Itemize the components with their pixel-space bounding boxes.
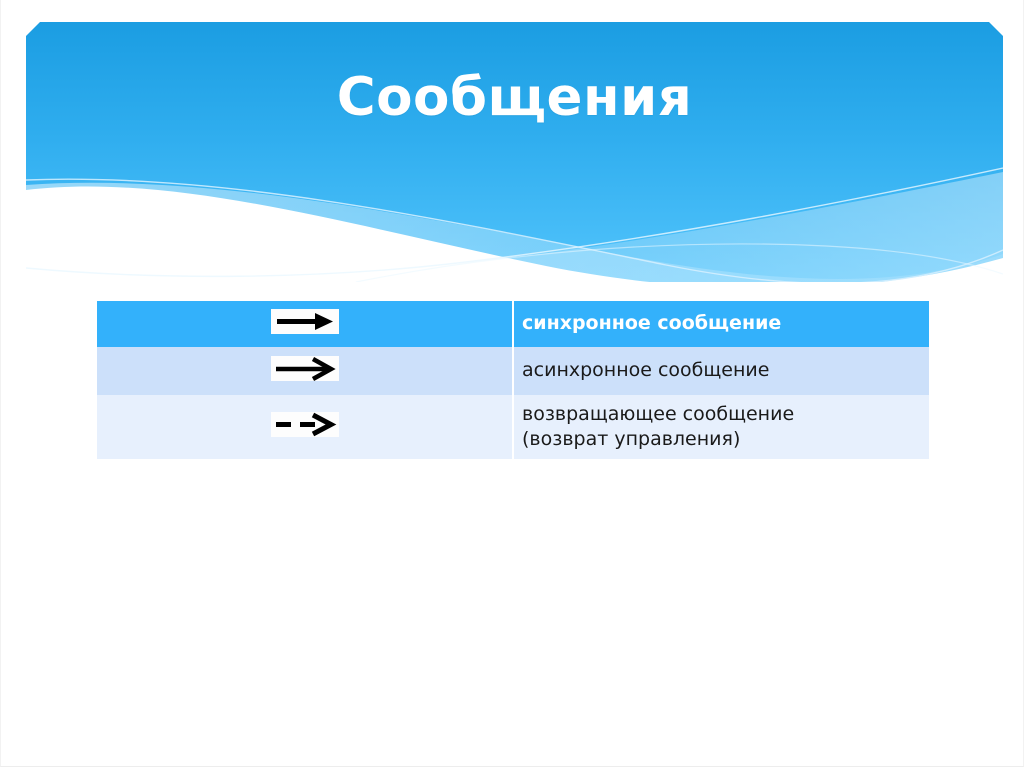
dashed-line-open-arrowhead-icon (271, 412, 339, 437)
legend-label-text-secondary: (возврат управления) (522, 427, 929, 452)
solid-line-open-arrowhead-icon (271, 356, 339, 381)
legend-label-cell: возвращающее сообщение (возврат управлен… (513, 395, 929, 459)
legend-symbol-cell (97, 395, 513, 459)
legend-label-cell: синхронное сообщение (513, 301, 929, 347)
legend-label-cell: асинхронное сообщение (513, 347, 929, 395)
table-row: возвращающее сообщение (возврат управлен… (97, 395, 929, 459)
title-banner: Сообщения (26, 22, 1003, 282)
legend-label-text: синхронное сообщение (522, 311, 929, 336)
table-row: синхронное сообщение (97, 301, 929, 347)
slide-canvas: Сообщения синхронное сообщение (0, 0, 1024, 767)
legend-label-text: асинхронное сообщение (522, 358, 929, 383)
legend-symbol-cell (97, 301, 513, 347)
message-legend-table: синхронное сообщение асинхронное сообщен… (97, 301, 929, 459)
legend-label-text: возвращающее сообщение (522, 402, 929, 427)
table-row: асинхронное сообщение (97, 347, 929, 395)
solid-line-filled-arrowhead-icon (271, 309, 339, 334)
page-title: Сообщения (26, 22, 1003, 172)
legend-symbol-cell (97, 347, 513, 395)
